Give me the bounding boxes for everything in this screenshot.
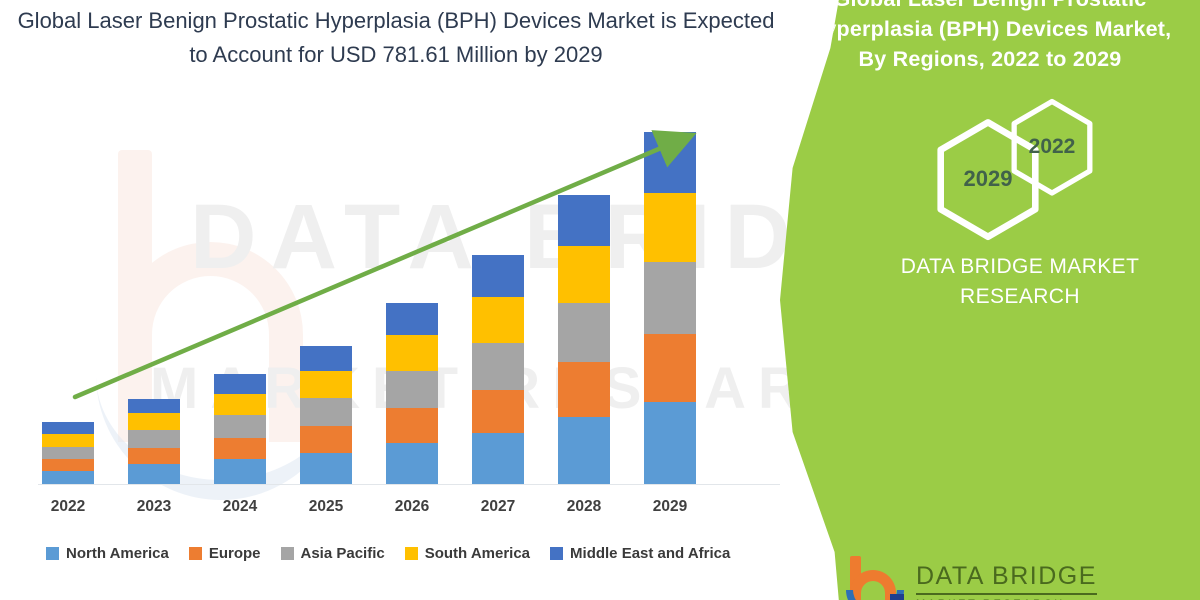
x-axis-label-2023: 2023 [114, 498, 194, 516]
segment-middle-east-and-africa [558, 195, 610, 246]
legend-item-north-america[interactable]: North America [46, 545, 169, 562]
segment-north-america [42, 471, 94, 484]
segment-north-america [386, 443, 438, 484]
segment-middle-east-and-africa [386, 303, 438, 335]
bar-2023 [128, 399, 180, 484]
legend-item-middle-east-and-africa[interactable]: Middle East and Africa [550, 545, 730, 562]
segment-middle-east-and-africa [300, 346, 352, 371]
segment-europe [472, 390, 524, 433]
segment-south-america [128, 413, 180, 429]
segment-middle-east-and-africa [644, 132, 696, 193]
bridge-logo-icon [846, 556, 902, 600]
legend-label: North America [66, 545, 169, 562]
legend-label: Middle East and Africa [570, 545, 730, 562]
infographic-canvas: DATA BRIDGE MARKET RESEARCH Global Laser… [0, 0, 1200, 600]
segment-south-america [472, 297, 524, 343]
legend-label: Asia Pacific [301, 545, 385, 562]
segment-middle-east-and-africa [472, 255, 524, 296]
x-axis-label-2026: 2026 [372, 498, 452, 516]
legend-swatch-icon [281, 547, 294, 560]
segment-asia-pacific [472, 343, 524, 391]
panel-title: Global Laser Benign Prostatic Hyperplasi… [780, 0, 1200, 74]
x-axis-label-2027: 2027 [458, 498, 538, 516]
segment-south-america [558, 246, 610, 304]
x-axis-labels: 20222023202420252026202720282029 [0, 498, 800, 524]
logo-primary-text: DATA BRIDGE [916, 562, 1097, 595]
segment-north-america [300, 453, 352, 484]
hexagon-end-year-label: 2029 [964, 166, 1013, 192]
legend-label: Europe [209, 545, 261, 562]
hexagon-start-year: 2022 [1008, 98, 1096, 196]
legend-item-europe[interactable]: Europe [189, 545, 261, 562]
legend-swatch-icon [46, 547, 59, 560]
legend-swatch-icon [550, 547, 563, 560]
bar-2024 [214, 374, 266, 484]
segment-middle-east-and-africa [128, 399, 180, 414]
segment-south-america [300, 371, 352, 398]
bar-2026 [386, 303, 438, 484]
segment-north-america [558, 417, 610, 484]
bar-2029 [644, 132, 696, 484]
segment-asia-pacific [558, 303, 610, 362]
segment-europe [644, 334, 696, 401]
segment-asia-pacific [214, 415, 266, 438]
segment-asia-pacific [386, 371, 438, 408]
x-axis-label-2024: 2024 [200, 498, 280, 516]
segment-middle-east-and-africa [214, 374, 266, 394]
stacked-bar-chart [0, 100, 800, 500]
segment-north-america [472, 433, 524, 484]
legend-item-asia-pacific[interactable]: Asia Pacific [281, 545, 385, 562]
legend-label: South America [425, 545, 530, 562]
logo-text: DATA BRIDGE MARKET RESEARCH [916, 562, 1097, 600]
x-axis-label-2029: 2029 [630, 498, 710, 516]
segment-europe [214, 438, 266, 459]
chart-baseline [38, 484, 780, 485]
chart-legend: North AmericaEuropeAsia PacificSouth Ame… [46, 540, 786, 566]
x-axis-label-2028: 2028 [544, 498, 624, 516]
legend-swatch-icon [405, 547, 418, 560]
page-title: Global Laser Benign Prostatic Hyperplasi… [16, 4, 776, 72]
x-axis-label-2022: 2022 [28, 498, 108, 516]
segment-europe [558, 362, 610, 416]
segment-asia-pacific [42, 447, 94, 459]
segment-europe [300, 426, 352, 452]
segment-north-america [214, 459, 266, 484]
bar-2028 [558, 195, 610, 484]
legend-swatch-icon [189, 547, 202, 560]
segment-asia-pacific [300, 398, 352, 427]
hexagon-start-year-label: 2022 [1029, 135, 1076, 159]
x-axis-label-2025: 2025 [286, 498, 366, 516]
segment-south-america [386, 335, 438, 371]
segment-south-america [214, 394, 266, 415]
segment-south-america [42, 434, 94, 447]
segment-europe [42, 459, 94, 471]
bar-2022 [42, 422, 94, 484]
bar-2027 [472, 255, 524, 484]
segment-south-america [644, 193, 696, 262]
segment-europe [386, 408, 438, 443]
bar-2025 [300, 346, 352, 484]
segment-europe [128, 448, 180, 464]
segment-middle-east-and-africa [42, 422, 94, 434]
segment-asia-pacific [644, 262, 696, 334]
brand-name: DATA BRIDGE MARKET RESEARCH [840, 252, 1200, 312]
legend-item-south-america[interactable]: South America [405, 545, 530, 562]
databridge-logo: DATA BRIDGE MARKET RESEARCH [838, 552, 1198, 600]
segment-north-america [644, 402, 696, 484]
segment-north-america [128, 464, 180, 484]
segment-asia-pacific [128, 430, 180, 448]
